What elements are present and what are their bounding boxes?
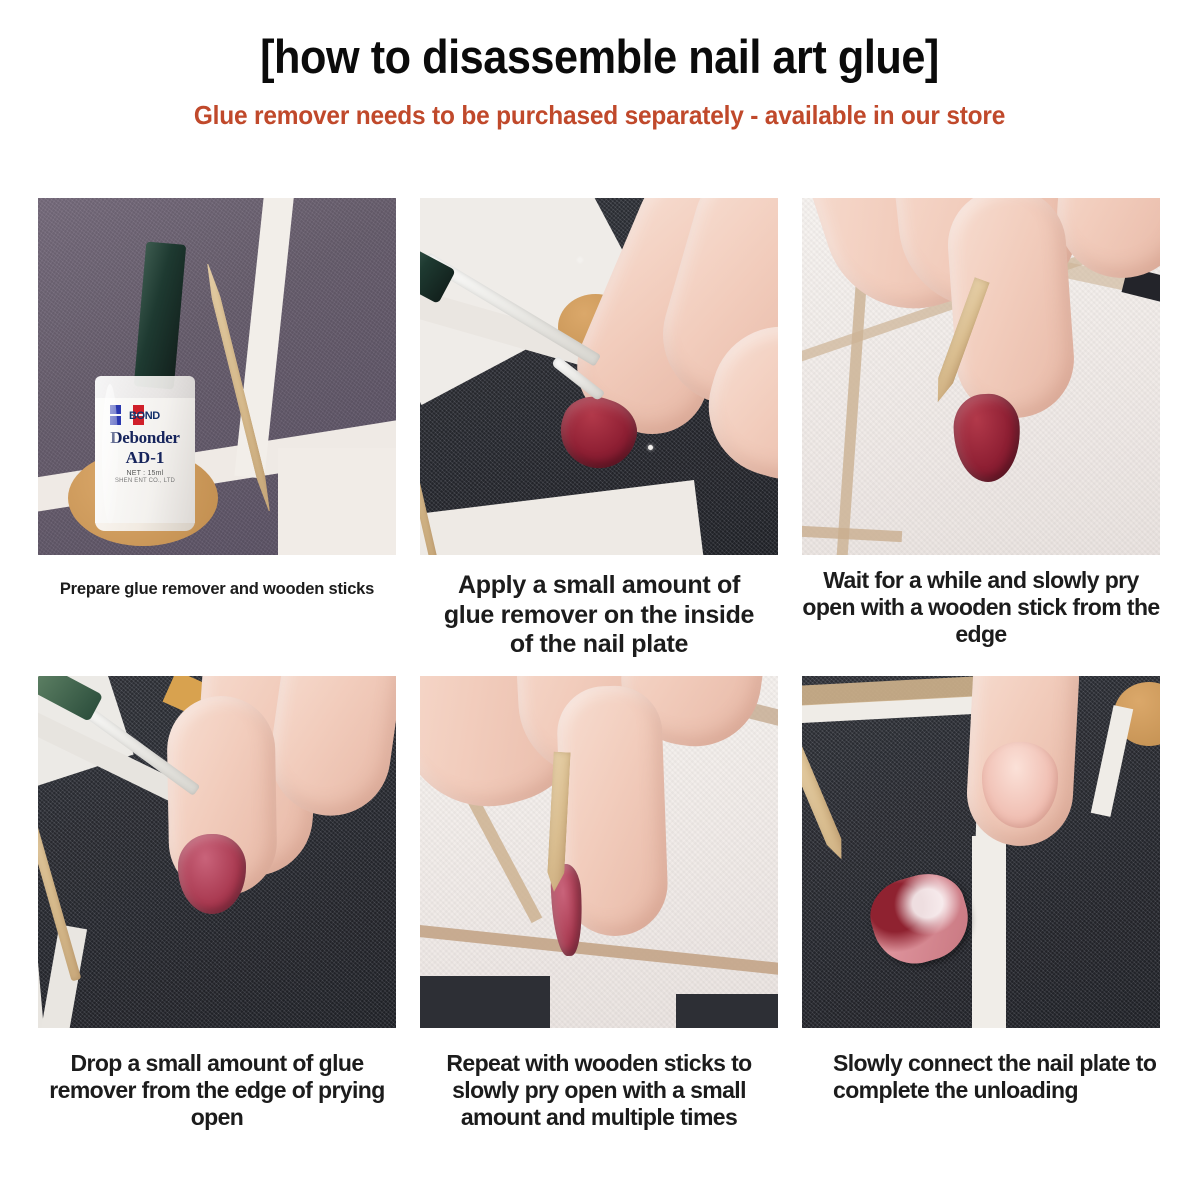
steps-row-bottom: Drop a small amount of glue remover from… — [38, 676, 1160, 1131]
step-card-1: BOND Debonder AD-1 NET : 15ml SHEN ENT C… — [38, 198, 396, 660]
step-photo-4 — [38, 676, 396, 1028]
step-card-6: Slowly connect the nail plate to complet… — [802, 676, 1160, 1131]
bottle-net-text: NET : 15ml — [95, 470, 195, 477]
glitter-speck — [578, 258, 582, 262]
page-subtitle: Glue remover needs to be purchased separ… — [36, 101, 1163, 130]
step-caption-2: Apply a small amount of glue remover on … — [432, 571, 767, 660]
step-caption-4: Drop a small amount of glue remover from… — [37, 1050, 397, 1131]
steps-row-top: BOND Debonder AD-1 NET : 15ml SHEN ENT C… — [38, 198, 1160, 660]
bottle-company-text: SHEN ENT CO., LTD — [95, 478, 195, 484]
step-caption-5: Repeat with wooden sticks to slowly pry … — [419, 1050, 779, 1131]
step-card-3: Wait for a while and slowly pry open wit… — [802, 198, 1160, 660]
header: [how to disassemble nail art glue] Glue … — [0, 0, 1199, 129]
step-photo-5 — [420, 676, 778, 1028]
infographic-page: [how to disassemble nail art glue] Glue … — [0, 0, 1199, 1200]
step-photo-6 — [802, 676, 1160, 1028]
dark-table-corner — [676, 994, 778, 1028]
step-caption-3: Wait for a while and slowly pry open wit… — [801, 567, 1161, 648]
bottle-product-text: Debonder — [95, 428, 195, 448]
bottle-logo: BOND — [95, 403, 195, 425]
bottle-brand-text: BOND — [129, 410, 160, 422]
logo-square-blue — [110, 416, 121, 425]
step-caption-1: Prepare glue remover and wooden sticks — [50, 580, 385, 599]
step-card-2: Apply a small amount of glue remover on … — [420, 198, 778, 660]
step-photo-2 — [420, 198, 778, 555]
dark-table-corner — [420, 976, 550, 1028]
steps-grid: BOND Debonder AD-1 NET : 15ml SHEN ENT C… — [38, 198, 1160, 1131]
logo-square-blue — [110, 405, 121, 414]
step-photo-3 — [802, 198, 1160, 555]
bottle-label: BOND Debonder AD-1 NET : 15ml SHEN ENT C… — [95, 398, 195, 523]
glitter-speck — [648, 445, 653, 450]
step-caption-6: Slowly connect the nail plate to complet… — [801, 1050, 1161, 1104]
table-stripe — [972, 836, 1006, 1028]
bottle-model-text: AD-1 — [95, 448, 195, 468]
table-stripe — [278, 448, 396, 555]
step-card-5: Repeat with wooden sticks to slowly pry … — [420, 676, 778, 1131]
page-title: [how to disassemble nail art glue] — [48, 32, 1151, 83]
step-card-4: Drop a small amount of glue remover from… — [38, 676, 396, 1131]
step-photo-1: BOND Debonder AD-1 NET : 15ml SHEN ENT C… — [38, 198, 396, 555]
